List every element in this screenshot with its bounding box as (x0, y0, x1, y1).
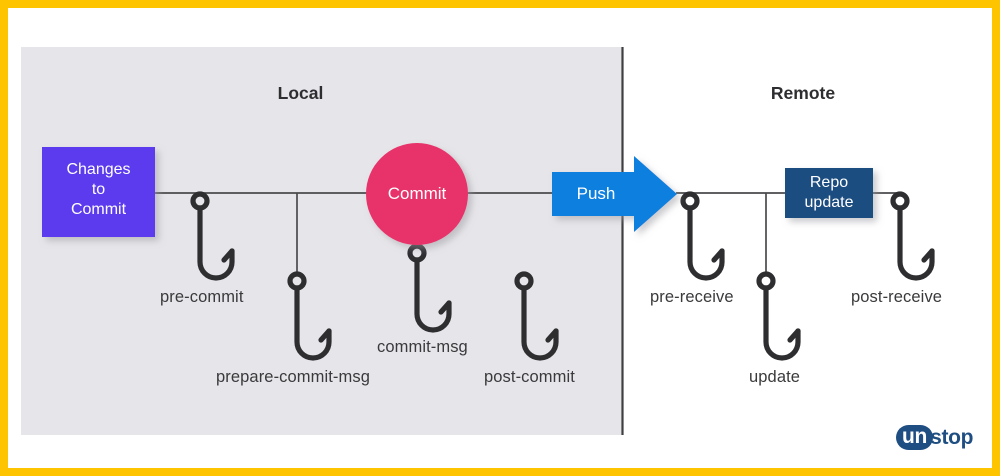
hook-label-update: update (749, 368, 800, 387)
commit-circle-label: Commit (367, 184, 467, 204)
repo-update-label: Repo update (785, 173, 873, 213)
hook-label-post-receive: post-receive (851, 288, 942, 307)
unstop-logo-pill: un (896, 425, 933, 450)
unstop-logo: un stop (896, 422, 973, 452)
diagram-stage: Local Remote Changes to Commit Commit Pu… (0, 0, 1000, 476)
hook-label-pre-receive: pre-receive (650, 288, 734, 307)
hook-update (759, 274, 798, 358)
hook-label-prepare-commit-msg: prepare-commit-msg (216, 368, 370, 387)
unstop-logo-text: stop (930, 427, 973, 448)
hook-label-pre-commit: pre-commit (160, 288, 244, 307)
diagram-canvas: Local Remote Changes to Commit Commit Pu… (0, 0, 1000, 476)
local-zone-title: Local (0, 83, 601, 104)
remote-zone-title: Remote (622, 83, 984, 104)
hook-label-commit-msg: commit-msg (377, 338, 468, 357)
push-arrow-label: Push (556, 184, 636, 204)
hook-post-receive (893, 194, 932, 278)
hook-pre-receive (683, 194, 722, 278)
hook-label-post-commit: post-commit (484, 368, 575, 387)
changes-to-commit-label: Changes to Commit (42, 160, 155, 219)
git-hooks-diagram-svg (0, 0, 1000, 476)
